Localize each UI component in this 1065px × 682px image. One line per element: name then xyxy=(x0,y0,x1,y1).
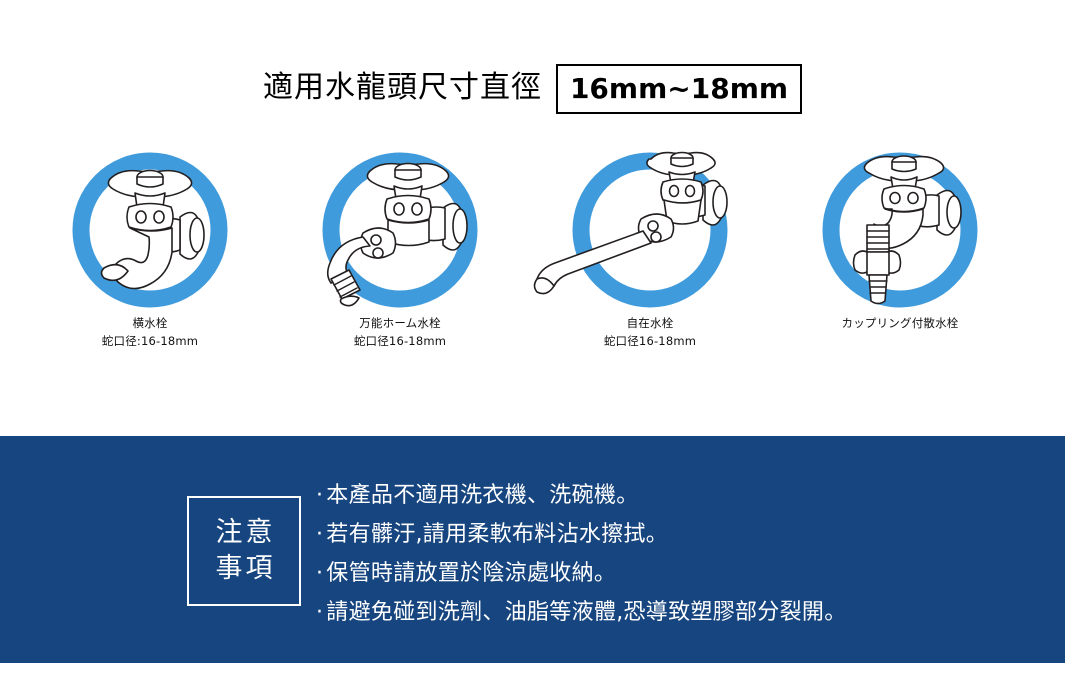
bullet-icon: · xyxy=(316,515,323,554)
notice-item-text: 本產品不適用洗衣機、洗碗機。 xyxy=(326,476,638,515)
notice-list: · 本產品不適用洗衣機、洗碗機。 · 若有髒汙,請用柔軟布料沾水擦拭。 · 保管… xyxy=(316,476,1016,632)
notice-item: · 本產品不適用洗衣機、洗碗機。 xyxy=(316,476,1016,515)
notice-item-text: 若有髒汙,請用柔軟布料沾水擦拭。 xyxy=(326,515,668,554)
faucet-caption: 万能ホーム水栓 蛇口径16-18mm xyxy=(280,315,520,349)
notice-item-text: 請避免碰到洗劑、油脂等液體,恐導致塑膠部分裂開。 xyxy=(326,593,846,632)
size-range-value: 16mm~18mm xyxy=(558,72,800,107)
size-range-box: 16mm~18mm xyxy=(556,64,802,114)
faucet-name: 自在水栓 xyxy=(530,315,770,331)
faucet-item: カップリング付散水栓 xyxy=(775,145,1025,365)
notice-badge-line-2: 事項 xyxy=(213,551,276,587)
faucet-spec: 蛇口径:16-18mm xyxy=(30,333,270,349)
notice-panel: 注意 事項 · 本產品不適用洗衣機、洗碗機。 · 若有髒汙,請用柔軟布料沾水擦拭… xyxy=(0,436,1065,663)
faucet-spec: 蛇口径16-18mm xyxy=(280,333,520,349)
bullet-icon: · xyxy=(316,476,323,515)
faucet-caption: 自在水栓 蛇口径16-18mm xyxy=(530,315,770,349)
faucet-illustration xyxy=(25,145,275,315)
page-title: 適用水龍頭尺寸直徑 xyxy=(263,73,542,105)
notice-item-text: 保管時請放置於陰涼處收納。 xyxy=(326,554,616,593)
faucet-illustration xyxy=(275,145,525,315)
faucet-item: 自在水栓 蛇口径16-18mm xyxy=(525,145,775,365)
header: 適用水龍頭尺寸直徑 16mm~18mm xyxy=(0,56,1065,122)
faucet-caption: カップリング付散水栓 xyxy=(780,315,1020,331)
faucet-caption: 横水栓 蛇口径:16-18mm xyxy=(30,315,270,349)
notice-item: · 保管時請放置於陰涼處收納。 xyxy=(316,554,1016,593)
faucet-name: 横水栓 xyxy=(30,315,270,331)
faucet-item: 横水栓 蛇口径:16-18mm xyxy=(25,145,275,365)
faucet-type-list: 横水栓 蛇口径:16-18mm xyxy=(0,145,1065,365)
bullet-icon: · xyxy=(316,554,323,593)
notice-badge-line-1: 注意 xyxy=(213,515,276,551)
faucet-illustration xyxy=(775,145,1025,315)
faucet-item: 万能ホーム水栓 蛇口径16-18mm xyxy=(275,145,525,365)
faucet-coupling-icon xyxy=(775,145,1025,315)
faucet-name: カップリング付散水栓 xyxy=(780,315,1020,331)
faucet-swivel-icon xyxy=(525,145,775,315)
faucet-name: 万能ホーム水栓 xyxy=(280,315,520,331)
faucet-universal-home-icon xyxy=(275,145,525,315)
faucet-spec: 蛇口径16-18mm xyxy=(530,333,770,349)
bullet-icon: · xyxy=(316,593,323,632)
notice-item: · 若有髒汙,請用柔軟布料沾水擦拭。 xyxy=(316,515,1016,554)
notice-item: · 請避免碰到洗劑、油脂等液體,恐導致塑膠部分裂開。 xyxy=(316,593,1016,632)
faucet-horizontal-icon xyxy=(25,145,275,315)
faucet-illustration xyxy=(525,145,775,315)
notice-badge: 注意 事項 xyxy=(187,496,301,606)
